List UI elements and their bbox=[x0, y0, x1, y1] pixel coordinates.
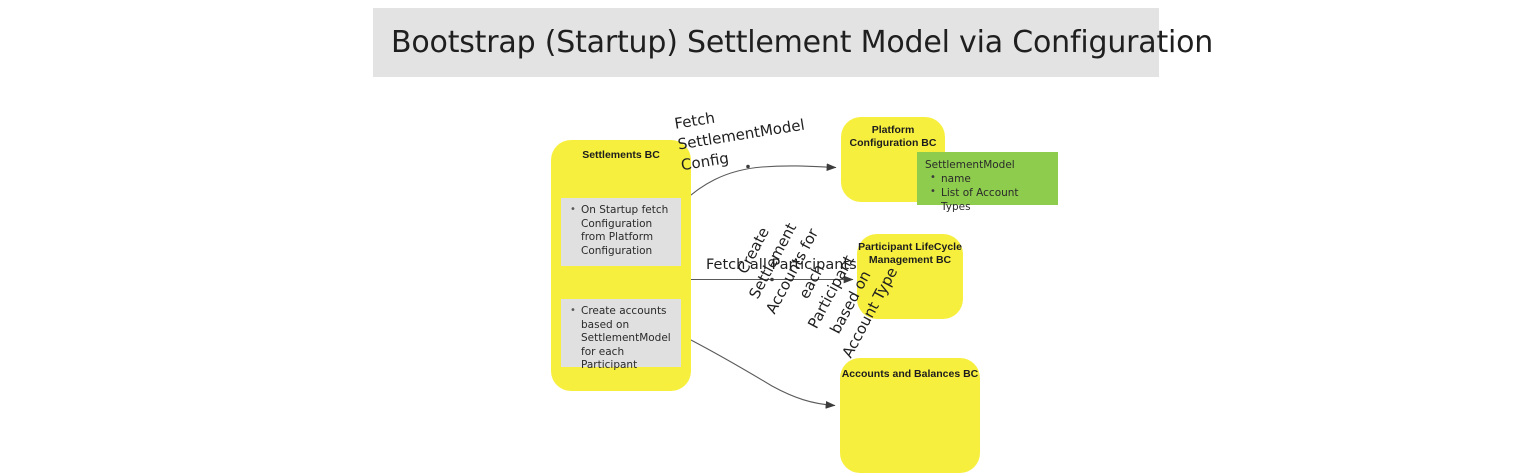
settlements-bc-title: Settlements BC bbox=[551, 149, 691, 162]
list-item: Create accounts based on SettlementModel… bbox=[581, 305, 673, 373]
edge-label-create-settlement-accounts: Create Settlement Accounts for each Part… bbox=[706, 175, 917, 389]
edge-label-fetch-settlement-model-config: Fetch SettlementModel Config bbox=[673, 89, 841, 176]
node-settlement-model[interactable]: SettlementModel name List of Account Typ… bbox=[917, 152, 1058, 205]
create-accounts-list: Create accounts based on SettlementModel… bbox=[567, 305, 673, 373]
list-item: name bbox=[941, 172, 1050, 186]
platform-configuration-bc-title: Platform Configuration BC bbox=[841, 124, 945, 150]
diagram-title-banner: Bootstrap (Startup) Settlement Model via… bbox=[373, 8, 1159, 77]
list-item: List of Account Types bbox=[941, 186, 1050, 214]
node-accounts-and-balances-bc[interactable]: Accounts and Balances BC bbox=[840, 358, 980, 473]
on-startup-list: On Startup fetch Configuration from Plat… bbox=[567, 204, 673, 258]
sub-box-create-accounts[interactable]: Create accounts based on SettlementModel… bbox=[561, 299, 681, 367]
node-settlements-bc[interactable]: Settlements BC On Startup fetch Configur… bbox=[551, 140, 691, 391]
diagram-canvas: Bootstrap (Startup) Settlement Model via… bbox=[0, 0, 1537, 473]
sub-box-on-startup-fetch-configuration[interactable]: On Startup fetch Configuration from Plat… bbox=[561, 198, 681, 266]
page-title: Bootstrap (Startup) Settlement Model via… bbox=[391, 25, 1213, 60]
accounts-and-balances-bc-title: Accounts and Balances BC bbox=[840, 368, 980, 381]
settlement-model-attribute-list: name List of Account Types bbox=[925, 172, 1050, 214]
list-item: On Startup fetch Configuration from Plat… bbox=[581, 204, 673, 258]
settlement-model-title: SettlementModel bbox=[925, 158, 1050, 172]
